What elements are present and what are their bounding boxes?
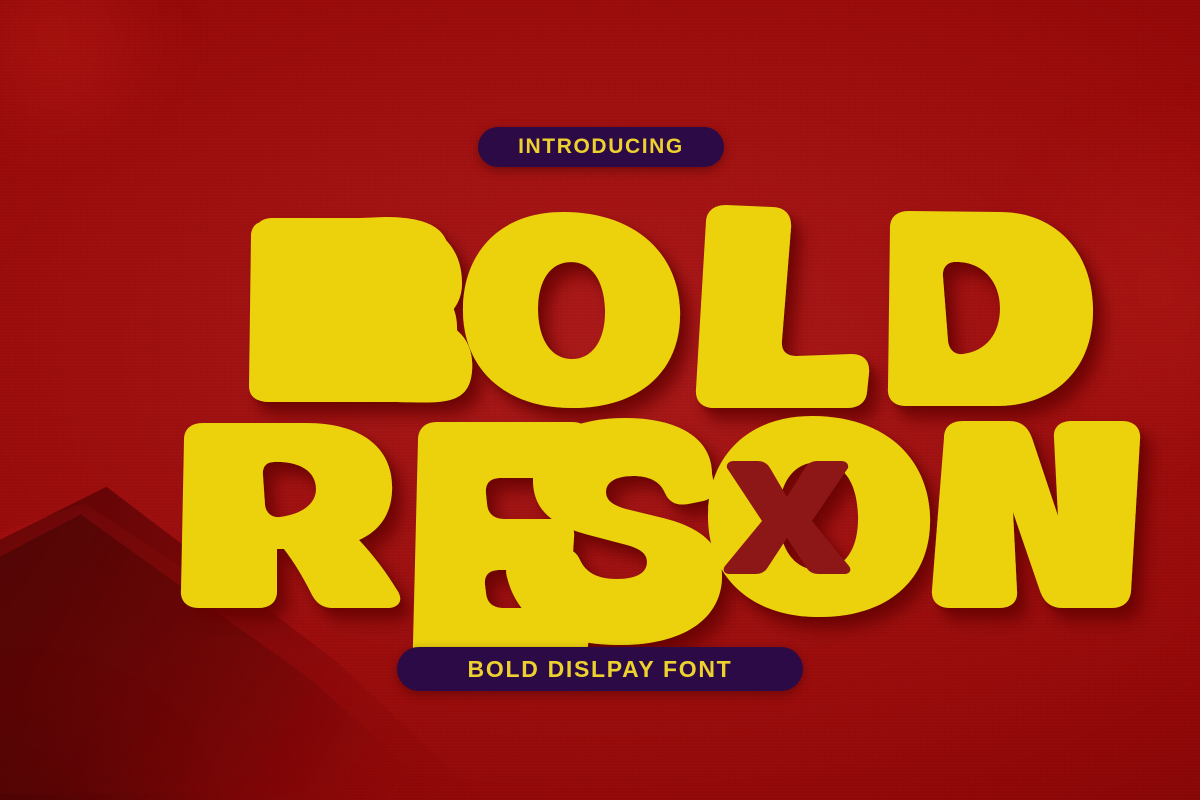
fabric-fold xyxy=(0,450,580,800)
tagline-badge: BOLD DISLPAY FONT xyxy=(397,647,803,691)
font-poster: INTRODUCING xyxy=(0,0,1200,800)
introducing-badge-label: INTRODUCING xyxy=(518,135,684,159)
tagline-badge-label: BOLD DISLPAY FONT xyxy=(468,656,733,683)
introducing-badge: INTRODUCING xyxy=(478,127,724,167)
fabric-fold-lowlight xyxy=(0,670,280,800)
